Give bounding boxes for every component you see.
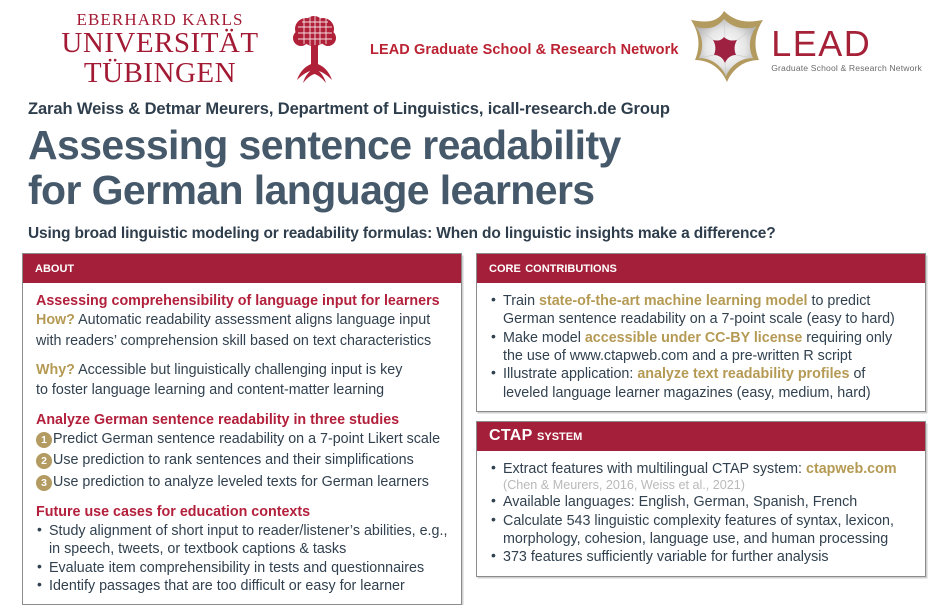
bullet-pre: Illustrate application: bbox=[503, 366, 637, 382]
authors-line: Zarah Weiss & Detmar Meurers, Department… bbox=[28, 100, 918, 119]
about-card: About Assessing comprehensibility of lan… bbox=[22, 254, 462, 605]
list-item: Identify passages that are too difficult… bbox=[36, 577, 450, 595]
about-future-title: Future use cases for education contexts bbox=[36, 503, 450, 521]
lead-tagline: Graduate School & Research Network bbox=[771, 64, 922, 73]
about-why-line2-wrap: to foster language learning and content-… bbox=[36, 381, 450, 399]
about-card-header: About bbox=[22, 253, 462, 283]
ctap-system-list: Extract features with multilingual CTAP … bbox=[490, 460, 914, 567]
study-item-text: Use prediction to analyze leveled texts … bbox=[53, 473, 450, 491]
about-studies-title: Analyze German sentence readability in t… bbox=[36, 411, 450, 429]
about-why-line2: to foster language learning and content-… bbox=[36, 382, 384, 398]
bullet-pre: Make model bbox=[503, 330, 585, 346]
lead-banner-text: LEAD Graduate School & Research Network bbox=[370, 42, 678, 58]
ctap-system-card-title-sub: system bbox=[537, 427, 582, 444]
title-line-2: for German language learners bbox=[28, 168, 918, 213]
study-number-badge: 1 bbox=[36, 432, 52, 448]
core-contributions-card-header: Core contributions bbox=[476, 253, 926, 283]
university-line-1: EBERHARD KARLS bbox=[56, 11, 264, 28]
list-item: Calculate 543 linguistic complexity feat… bbox=[490, 512, 914, 549]
list-item: Train state-of-the-art machine learning … bbox=[490, 292, 914, 329]
bullet-highlight: accessible under CC-BY license bbox=[585, 330, 802, 346]
list-item: Evaluate item comprehensibility in tests… bbox=[36, 559, 450, 577]
ctap-system-card-title-main: CTAP bbox=[489, 427, 533, 444]
university-tuebingen-wordmark: EBERHARD KARLS UNIVERSITÄT TÜBINGEN bbox=[56, 11, 264, 88]
about-how-line2: with readers’ comprehension skill based … bbox=[36, 333, 431, 349]
about-block1-title: Assessing comprehensibility of language … bbox=[36, 292, 450, 310]
list-item: Available languages: English, German, Sp… bbox=[490, 493, 914, 511]
poster-columns: About Assessing comprehensibility of lan… bbox=[0, 243, 940, 605]
bullet-citation: (Chen & Meurers, 2016, Weiss et al., 202… bbox=[503, 478, 914, 493]
page-subtitle: Using broad linguistic modeling or reada… bbox=[28, 225, 918, 243]
about-how-label: How? bbox=[36, 312, 75, 328]
lead-wordmark: LEAD Graduate School & Research Network bbox=[771, 26, 922, 73]
about-why-label: Why? bbox=[36, 362, 75, 378]
lead-word-text: LEAD bbox=[771, 26, 922, 62]
bullet-pre: Calculate 543 linguistic complexity feat… bbox=[503, 513, 894, 547]
left-column: About Assessing comprehensibility of lan… bbox=[22, 254, 462, 605]
bullet-highlight: ctapweb.com bbox=[806, 461, 897, 477]
lead-star-icon bbox=[681, 8, 767, 90]
title-line-1: Assessing sentence readability bbox=[28, 123, 918, 168]
lead-logo: LEAD Graduate School & Research Network bbox=[681, 8, 922, 90]
study-item-text: Use prediction to rank sentences and the… bbox=[53, 451, 450, 469]
bullet-highlight: state-of-the-art machine learning model bbox=[539, 293, 808, 309]
bullet-pre: 373 features sufficiently variable for f… bbox=[503, 549, 829, 565]
bullet-pre: Extract features with multilingual CTAP … bbox=[503, 461, 806, 477]
about-why-line1: Accessible but linguistically challengin… bbox=[78, 362, 402, 378]
bullet-pre: Train bbox=[503, 293, 539, 309]
about-how-line2-wrap: with readers’ comprehension skill based … bbox=[36, 332, 450, 350]
about-spacer-3 bbox=[36, 494, 450, 503]
list-item: Extract features with multilingual CTAP … bbox=[490, 460, 914, 493]
core-contributions-card-body: Train state-of-the-art machine learning … bbox=[477, 283, 925, 411]
ctap-system-card-body: Extract features with multilingual CTAP … bbox=[477, 451, 925, 576]
core-contributions-list: Train state-of-the-art machine learning … bbox=[490, 292, 914, 402]
about-why-paragraph: Why? Accessible but linguistically chall… bbox=[36, 361, 450, 379]
core-contributions-card: Core contributions Train state-of-the-ar… bbox=[476, 254, 926, 412]
list-item: 3 Use prediction to analyze leveled text… bbox=[36, 473, 450, 491]
about-spacer-2 bbox=[36, 402, 450, 411]
list-item: Illustrate application: analyze text rea… bbox=[490, 365, 914, 402]
about-studies-list: 1 Predict German sentence readability on… bbox=[36, 430, 450, 491]
list-item: 2 Use prediction to rank sentences and t… bbox=[36, 451, 450, 469]
university-line-3: TÜBINGEN bbox=[56, 59, 264, 89]
about-card-body: Assessing comprehensibility of language … bbox=[23, 283, 461, 604]
title-block: Zarah Weiss & Detmar Meurers, Department… bbox=[0, 100, 940, 243]
university-line-2: UNIVERSITÄT bbox=[56, 29, 264, 59]
page-title: Assessing sentence readability for Germa… bbox=[28, 123, 918, 213]
list-item: Study alignment of short input to reader… bbox=[36, 522, 450, 559]
study-item-text: Predict German sentence readability on a… bbox=[53, 430, 450, 448]
tuebingen-tree-icon bbox=[292, 13, 338, 87]
bullet-pre: Available languages: English, German, Sp… bbox=[503, 494, 857, 510]
logo-bar: EBERHARD KARLS UNIVERSITÄT TÜBINGEN LEAD bbox=[0, 0, 940, 100]
study-number-badge: 2 bbox=[36, 453, 52, 469]
list-item: Make model accessible under CC-BY licens… bbox=[490, 329, 914, 366]
about-how-paragraph: How? Automatic readability assessment al… bbox=[36, 311, 450, 329]
list-item: 373 features sufficiently variable for f… bbox=[490, 548, 914, 566]
about-spacer-1 bbox=[36, 352, 450, 361]
poster-root: EBERHARD KARLS UNIVERSITÄT TÜBINGEN LEAD bbox=[0, 0, 940, 601]
list-item: 1 Predict German sentence readability on… bbox=[36, 430, 450, 448]
about-how-line1: Automatic readability assessment aligns … bbox=[78, 312, 430, 328]
about-future-list: Study alignment of short input to reader… bbox=[36, 522, 450, 595]
ctap-system-card: CTAP system Extract features with multil… bbox=[476, 422, 926, 577]
bullet-highlight: analyze text readability profiles bbox=[637, 366, 849, 382]
right-column: Core contributions Train state-of-the-ar… bbox=[476, 254, 926, 605]
about-card-title: About bbox=[35, 259, 74, 276]
core-contributions-card-title: Core contributions bbox=[489, 259, 617, 276]
ctap-system-card-header: CTAP system bbox=[476, 421, 926, 451]
study-number-badge: 3 bbox=[36, 475, 52, 491]
